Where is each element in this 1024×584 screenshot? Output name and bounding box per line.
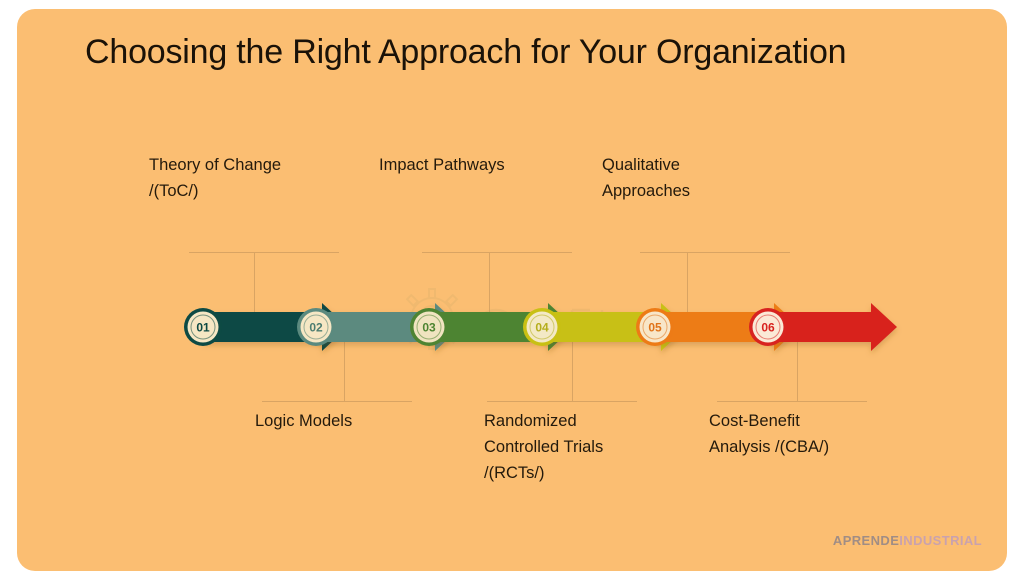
node-number: 05 (648, 321, 662, 335)
node-number: 01 (196, 321, 210, 335)
brand-part-1: APRENDE (833, 533, 899, 548)
step-label-4-line-2: Controlled Trials (484, 434, 674, 460)
step-label-4-line-3: /(RCTs/) (484, 460, 674, 486)
node-ring (749, 308, 787, 346)
node-disc (301, 312, 332, 343)
timeline-segment-04[interactable] (542, 303, 687, 351)
slide-canvas: Choosing the Right Approach for Your Org… (17, 9, 1007, 571)
timeline-node-03[interactable]: 03 (410, 308, 448, 346)
timeline-segment-06[interactable] (768, 303, 897, 351)
node-number: 03 (422, 321, 436, 335)
node-number: 06 (761, 321, 775, 335)
node-disc (188, 312, 219, 343)
node-inner-ring (643, 315, 667, 339)
node-inner-ring (191, 315, 215, 339)
connector-rise-4 (572, 342, 573, 402)
node-disc (753, 312, 784, 343)
node-ring (184, 308, 222, 346)
step-label-1-line-2: /(ToC/) (149, 178, 339, 204)
gear-watermark-icon (392, 279, 472, 359)
timeline-node-06[interactable]: 06 (749, 308, 787, 346)
timeline-segment-05[interactable] (655, 303, 800, 351)
node-ring (297, 308, 335, 346)
node-ring (523, 308, 561, 346)
node-inner-ring (530, 315, 554, 339)
node-disc (527, 312, 558, 343)
step-label-2: Logic Models (255, 408, 455, 434)
node-inner-ring (756, 315, 780, 339)
step-label-1-line-1: Theory of Change (149, 152, 339, 178)
node-disc (640, 312, 671, 343)
brand-watermark-icon (472, 294, 622, 352)
node-number: 02 (309, 321, 323, 335)
step-label-6-line-2: Analysis /(CBA/) (709, 434, 909, 460)
step-label-6: Cost-Benefit Analysis /(CBA/) (709, 408, 909, 460)
brand-watermark: APRENDEINDUSTRIAL (833, 533, 982, 548)
node-inner-ring (304, 315, 328, 339)
connector-rise-6 (797, 342, 798, 402)
step-label-6-line-1: Cost-Benefit (709, 408, 909, 434)
connector-top-5 (640, 252, 790, 253)
node-inner-ring (417, 315, 441, 339)
connector-drop-1 (254, 252, 255, 312)
timeline-node-02[interactable]: 02 (297, 308, 335, 346)
connector-drop-3 (489, 252, 490, 312)
connector-top-3 (422, 252, 572, 253)
step-label-1: Theory of Change /(ToC/) (149, 152, 339, 204)
step-label-5: Qualitative Approaches (602, 152, 772, 204)
connector-bottom-6 (717, 401, 867, 402)
connector-top-1 (189, 252, 339, 253)
timeline-segment-02[interactable] (316, 303, 461, 351)
node-ring (636, 308, 674, 346)
step-label-3-line-1: Impact Pathways (379, 152, 579, 178)
connector-drop-5 (687, 252, 688, 312)
step-label-3: Impact Pathways (379, 152, 579, 178)
timeline-node-01[interactable]: 01 (184, 308, 222, 346)
process-timeline: 010203040506 (17, 9, 1007, 571)
step-label-4-line-1: Randomized (484, 408, 674, 434)
connector-rise-2 (344, 342, 345, 402)
step-label-4: Randomized Controlled Trials /(RCTs/) (484, 408, 674, 486)
step-label-2-line-1: Logic Models (255, 408, 455, 434)
connector-bottom-4 (487, 401, 637, 402)
brand-part-2: INDUSTRIAL (899, 533, 982, 548)
node-number: 04 (535, 321, 549, 335)
page-title: Choosing the Right Approach for Your Org… (85, 29, 965, 75)
connector-bottom-2 (262, 401, 412, 402)
timeline-segment-03[interactable] (429, 303, 574, 351)
step-label-5-line-2: Approaches (602, 178, 772, 204)
node-disc (414, 312, 445, 343)
timeline-node-05[interactable]: 05 (636, 308, 674, 346)
timeline-node-04[interactable]: 04 (523, 308, 561, 346)
node-ring (410, 308, 448, 346)
timeline-segment-01[interactable] (203, 303, 348, 351)
step-label-5-line-1: Qualitative (602, 152, 772, 178)
